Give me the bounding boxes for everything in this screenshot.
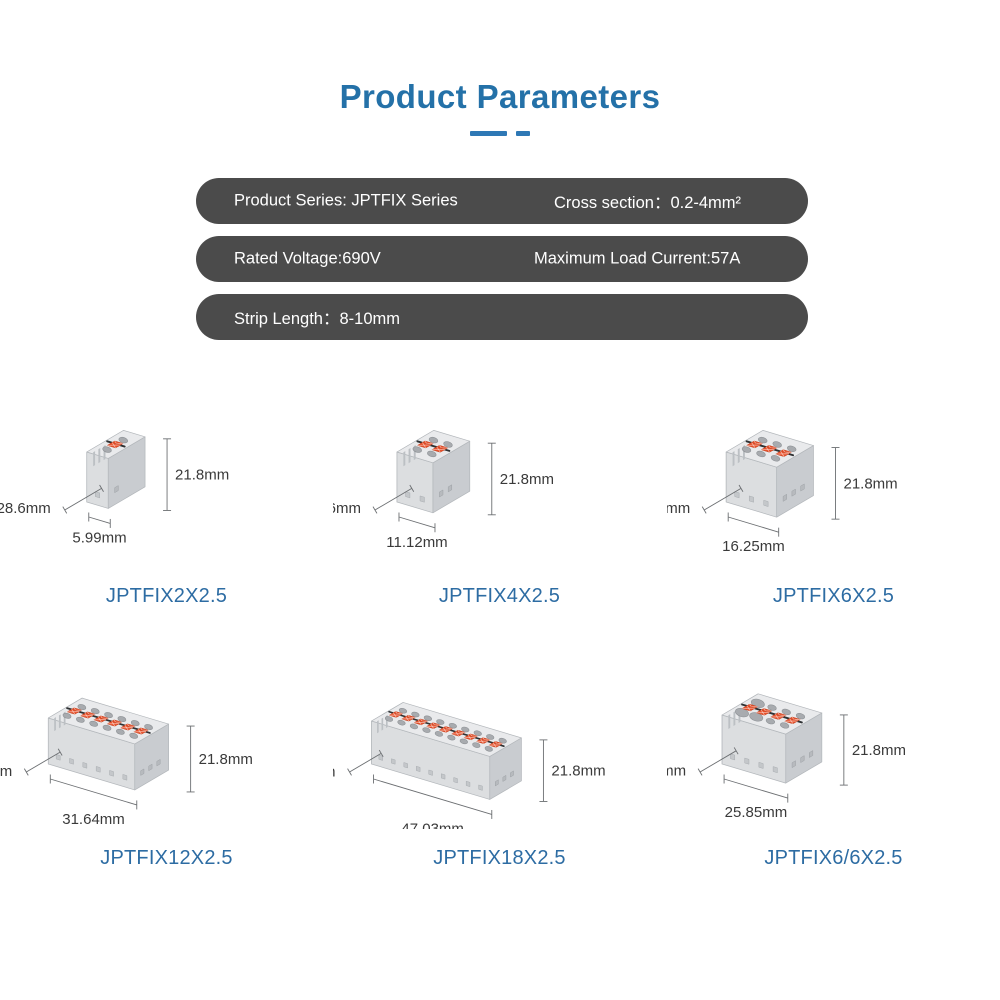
product-figure-jptfix2: 21.8mm5.99mm28.6mm [0,352,333,567]
product-cell-jptfix4: 21.8mm11.12mm28.6mm JPTFIX4X2.5 [333,352,666,614]
product-label-jptfix12: JPTFIX12X2.5 [0,847,333,870]
product-figure-jptfix18: 21.8mm47.03mm28.6mm [333,614,666,829]
svg-text:21.8mm: 21.8mm [843,475,897,492]
product-figure-jptfix12: 21.8mm31.64mm28.6mm [0,614,333,829]
svg-text:25.85mm: 25.85mm [725,804,788,821]
svg-text:31.64mm: 31.64mm [62,811,125,828]
parameter-product-series: Product Series: JPTFIX Series [234,192,458,211]
product-grid: 21.8mm5.99mm28.6mm JPTFIX2X2.5 21.8mm11.… [0,352,1000,876]
product-figure-jptfix6-6: 21.8mm25.85mm28.6mm [667,614,1000,829]
svg-text:21.8mm: 21.8mm [199,751,253,768]
svg-text:5.99mm: 5.99mm [72,529,126,546]
product-label-jptfix4: JPTFIX4X2.5 [333,585,666,608]
product-figure-jptfix6: 21.8mm16.25mm28.6mm [667,352,1000,567]
parameter-rated-voltage: Rated Voltage:690V [234,250,381,269]
product-cell-jptfix18: 21.8mm47.03mm28.6mm JPTFIX18X2.5 [333,614,666,876]
divider-dash-short [516,131,530,136]
parameter-strip-length: Strip Length：8-10mm [234,305,400,329]
parameter-row-2: Rated Voltage:690V Maximum Load Current:… [196,236,808,282]
parameter-cross-section: Cross section：0.2-4mm² [554,189,741,213]
product-label-jptfix18: JPTFIX18X2.5 [333,847,666,870]
product-label-jptfix6: JPTFIX6X2.5 [667,585,1000,608]
title-divider [0,131,1000,136]
svg-text:28.6mm: 28.6mm [333,500,361,517]
product-parameters-page: Product Parameters Product Series: JPTFI… [0,0,1000,1000]
divider-dash-long [470,131,507,136]
product-cell-jptfix12: 21.8mm31.64mm28.6mm JPTFIX12X2.5 [0,614,333,876]
svg-text:21.8mm: 21.8mm [500,471,554,488]
svg-text:28.6mm: 28.6mm [667,762,686,779]
svg-text:11.12mm: 11.12mm [386,534,447,551]
svg-text:28.6mm: 28.6mm [667,500,690,517]
product-label-jptfix2: JPTFIX2X2.5 [0,585,333,608]
svg-text:21.8mm: 21.8mm [852,742,906,759]
page-title: Product Parameters [0,78,1000,116]
svg-text:28.6mm: 28.6mm [0,763,12,780]
product-cell-jptfix2: 21.8mm5.99mm28.6mm JPTFIX2X2.5 [0,352,333,614]
product-cell-jptfix6: 21.8mm16.25mm28.6mm JPTFIX6X2.5 [667,352,1000,614]
svg-text:21.8mm: 21.8mm [175,467,229,484]
parameter-row-3: Strip Length：8-10mm [196,294,808,340]
svg-text:28.6mm: 28.6mm [333,764,336,781]
product-label-jptfix6-6: JPTFIX6/6X2.5 [667,847,1000,870]
product-figure-jptfix4: 21.8mm11.12mm28.6mm [333,352,666,567]
parameter-list: Product Series: JPTFIX Series Cross sect… [196,178,808,352]
product-row-top: 21.8mm5.99mm28.6mm JPTFIX2X2.5 21.8mm11.… [0,352,1000,614]
parameter-row-1: Product Series: JPTFIX Series Cross sect… [196,178,808,224]
svg-text:47.03mm: 47.03mm [401,820,464,829]
svg-text:21.8mm: 21.8mm [551,763,605,780]
product-cell-jptfix6-6: 21.8mm25.85mm28.6mm JPTFIX6/6X2.5 [667,614,1000,876]
svg-text:16.25mm: 16.25mm [722,538,785,555]
svg-text:28.6mm: 28.6mm [0,500,51,517]
product-row-bottom: 21.8mm31.64mm28.6mm JPTFIX12X2.5 21.8mm4… [0,614,1000,876]
parameter-max-load-current: Maximum Load Current:57A [534,250,740,269]
